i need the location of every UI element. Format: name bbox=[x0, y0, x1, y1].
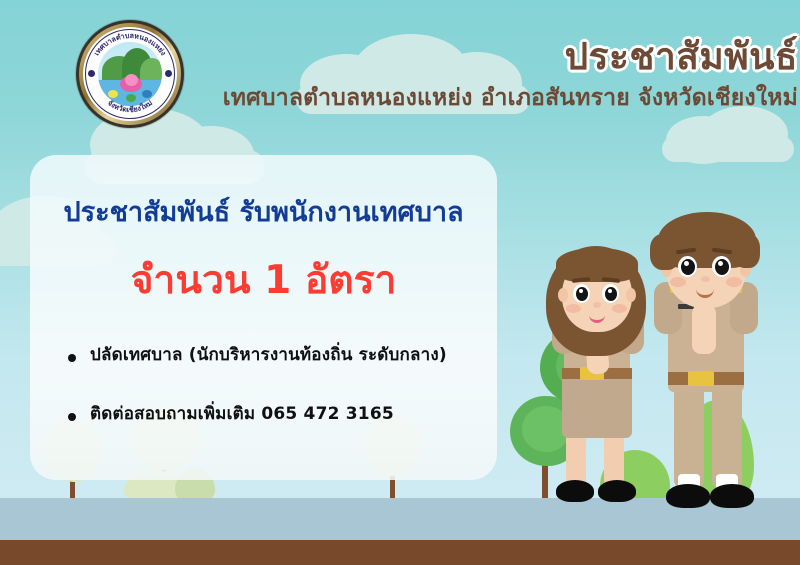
right-ear bbox=[626, 288, 636, 302]
left-shoe bbox=[556, 480, 594, 502]
ground-soil bbox=[0, 540, 800, 565]
bullet-text: ติดต่อสอบถามเพิ่มเติม 065 472 3165 bbox=[90, 404, 394, 425]
left-trouser bbox=[674, 380, 704, 488]
right-trouser bbox=[712, 380, 742, 488]
right-shoe bbox=[598, 480, 636, 502]
left-eye bbox=[678, 256, 697, 277]
hair-side-right bbox=[734, 234, 760, 268]
seal-star-left bbox=[88, 70, 95, 77]
right-shoe bbox=[710, 484, 754, 508]
announcement-poster: เทศบาลตำบลหนองแหย่ง จังหวัดเชียงใหม่ ประ… bbox=[0, 0, 800, 565]
right-eye bbox=[602, 284, 619, 303]
wai-hands bbox=[692, 302, 716, 354]
right-cheek bbox=[726, 277, 742, 287]
nose bbox=[701, 276, 710, 282]
belt-buckle bbox=[688, 371, 714, 386]
left-cheek bbox=[670, 277, 686, 287]
municipality-seal: เทศบาลตำบลหนองแหย่ง จังหวัดเชียงใหม่ bbox=[76, 20, 184, 128]
header-title: ประชาสัมพันธ์ bbox=[200, 27, 800, 86]
seal-scenery bbox=[98, 42, 162, 106]
bullet-dot-icon bbox=[68, 354, 76, 362]
right-eye bbox=[712, 256, 731, 277]
bullet-list: ปลัดเทศบาล (นักบริหารงานท้องถิ่น ระดับกล… bbox=[30, 345, 497, 464]
bullet-dot-icon bbox=[68, 413, 76, 421]
header-subtitle: เทศบาลตำบลหนองแหย่ง อำเภอสันทราย จังหวัด… bbox=[200, 80, 800, 116]
list-item: ปลัดเทศบาล (นักบริหารงานท้องถิ่น ระดับกล… bbox=[30, 345, 497, 366]
left-ear bbox=[558, 288, 568, 302]
left-shoe bbox=[666, 484, 710, 508]
male-officer bbox=[646, 222, 782, 518]
seal-star-right bbox=[165, 70, 172, 77]
hair-fringe bbox=[556, 248, 638, 282]
card-title: ประชาสัมพันธ์ รับพนักงานเทศบาล bbox=[30, 190, 497, 233]
right-cheek bbox=[612, 304, 627, 313]
nose bbox=[593, 302, 601, 308]
list-item: ติดต่อสอบถามเพิ่มเติม 065 472 3165 bbox=[30, 404, 497, 425]
card-headline: จำนวน 1 อัตรา bbox=[30, 249, 497, 311]
bullet-text: ปลัดเทศบาล (นักบริหารงานท้องถิ่น ระดับกล… bbox=[90, 345, 447, 366]
left-eye bbox=[573, 284, 590, 303]
left-cheek bbox=[566, 304, 581, 313]
